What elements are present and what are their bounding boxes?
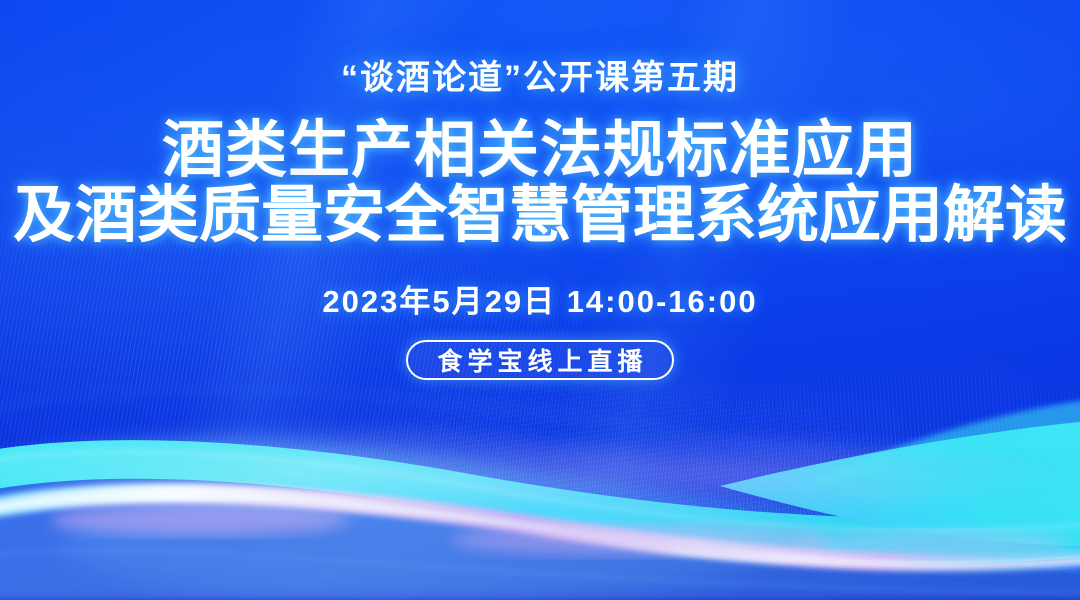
live-channel-badge: 食学宝线上直播 xyxy=(406,340,673,380)
poster-datetime: 2023年5月29日 14:00-16:00 xyxy=(322,276,757,321)
poster-title-line-2: 及酒类质量安全智慧管理系统应用解读 xyxy=(13,184,1067,248)
poster-title: 酒类生产相关法规标准应用 及酒类质量安全智慧管理系统应用解读 xyxy=(13,119,1067,248)
poster-content: “谈酒论道”公开课第五期 酒类生产相关法规标准应用 及酒类质量安全智慧管理系统应… xyxy=(0,0,1080,600)
poster-title-line-1: 酒类生产相关法规标准应用 xyxy=(13,119,1067,183)
poster-canvas: “谈酒论道”公开课第五期 酒类生产相关法规标准应用 及酒类质量安全智慧管理系统应… xyxy=(0,0,1080,600)
poster-subtitle: “谈酒论道”公开课第五期 xyxy=(341,60,739,97)
